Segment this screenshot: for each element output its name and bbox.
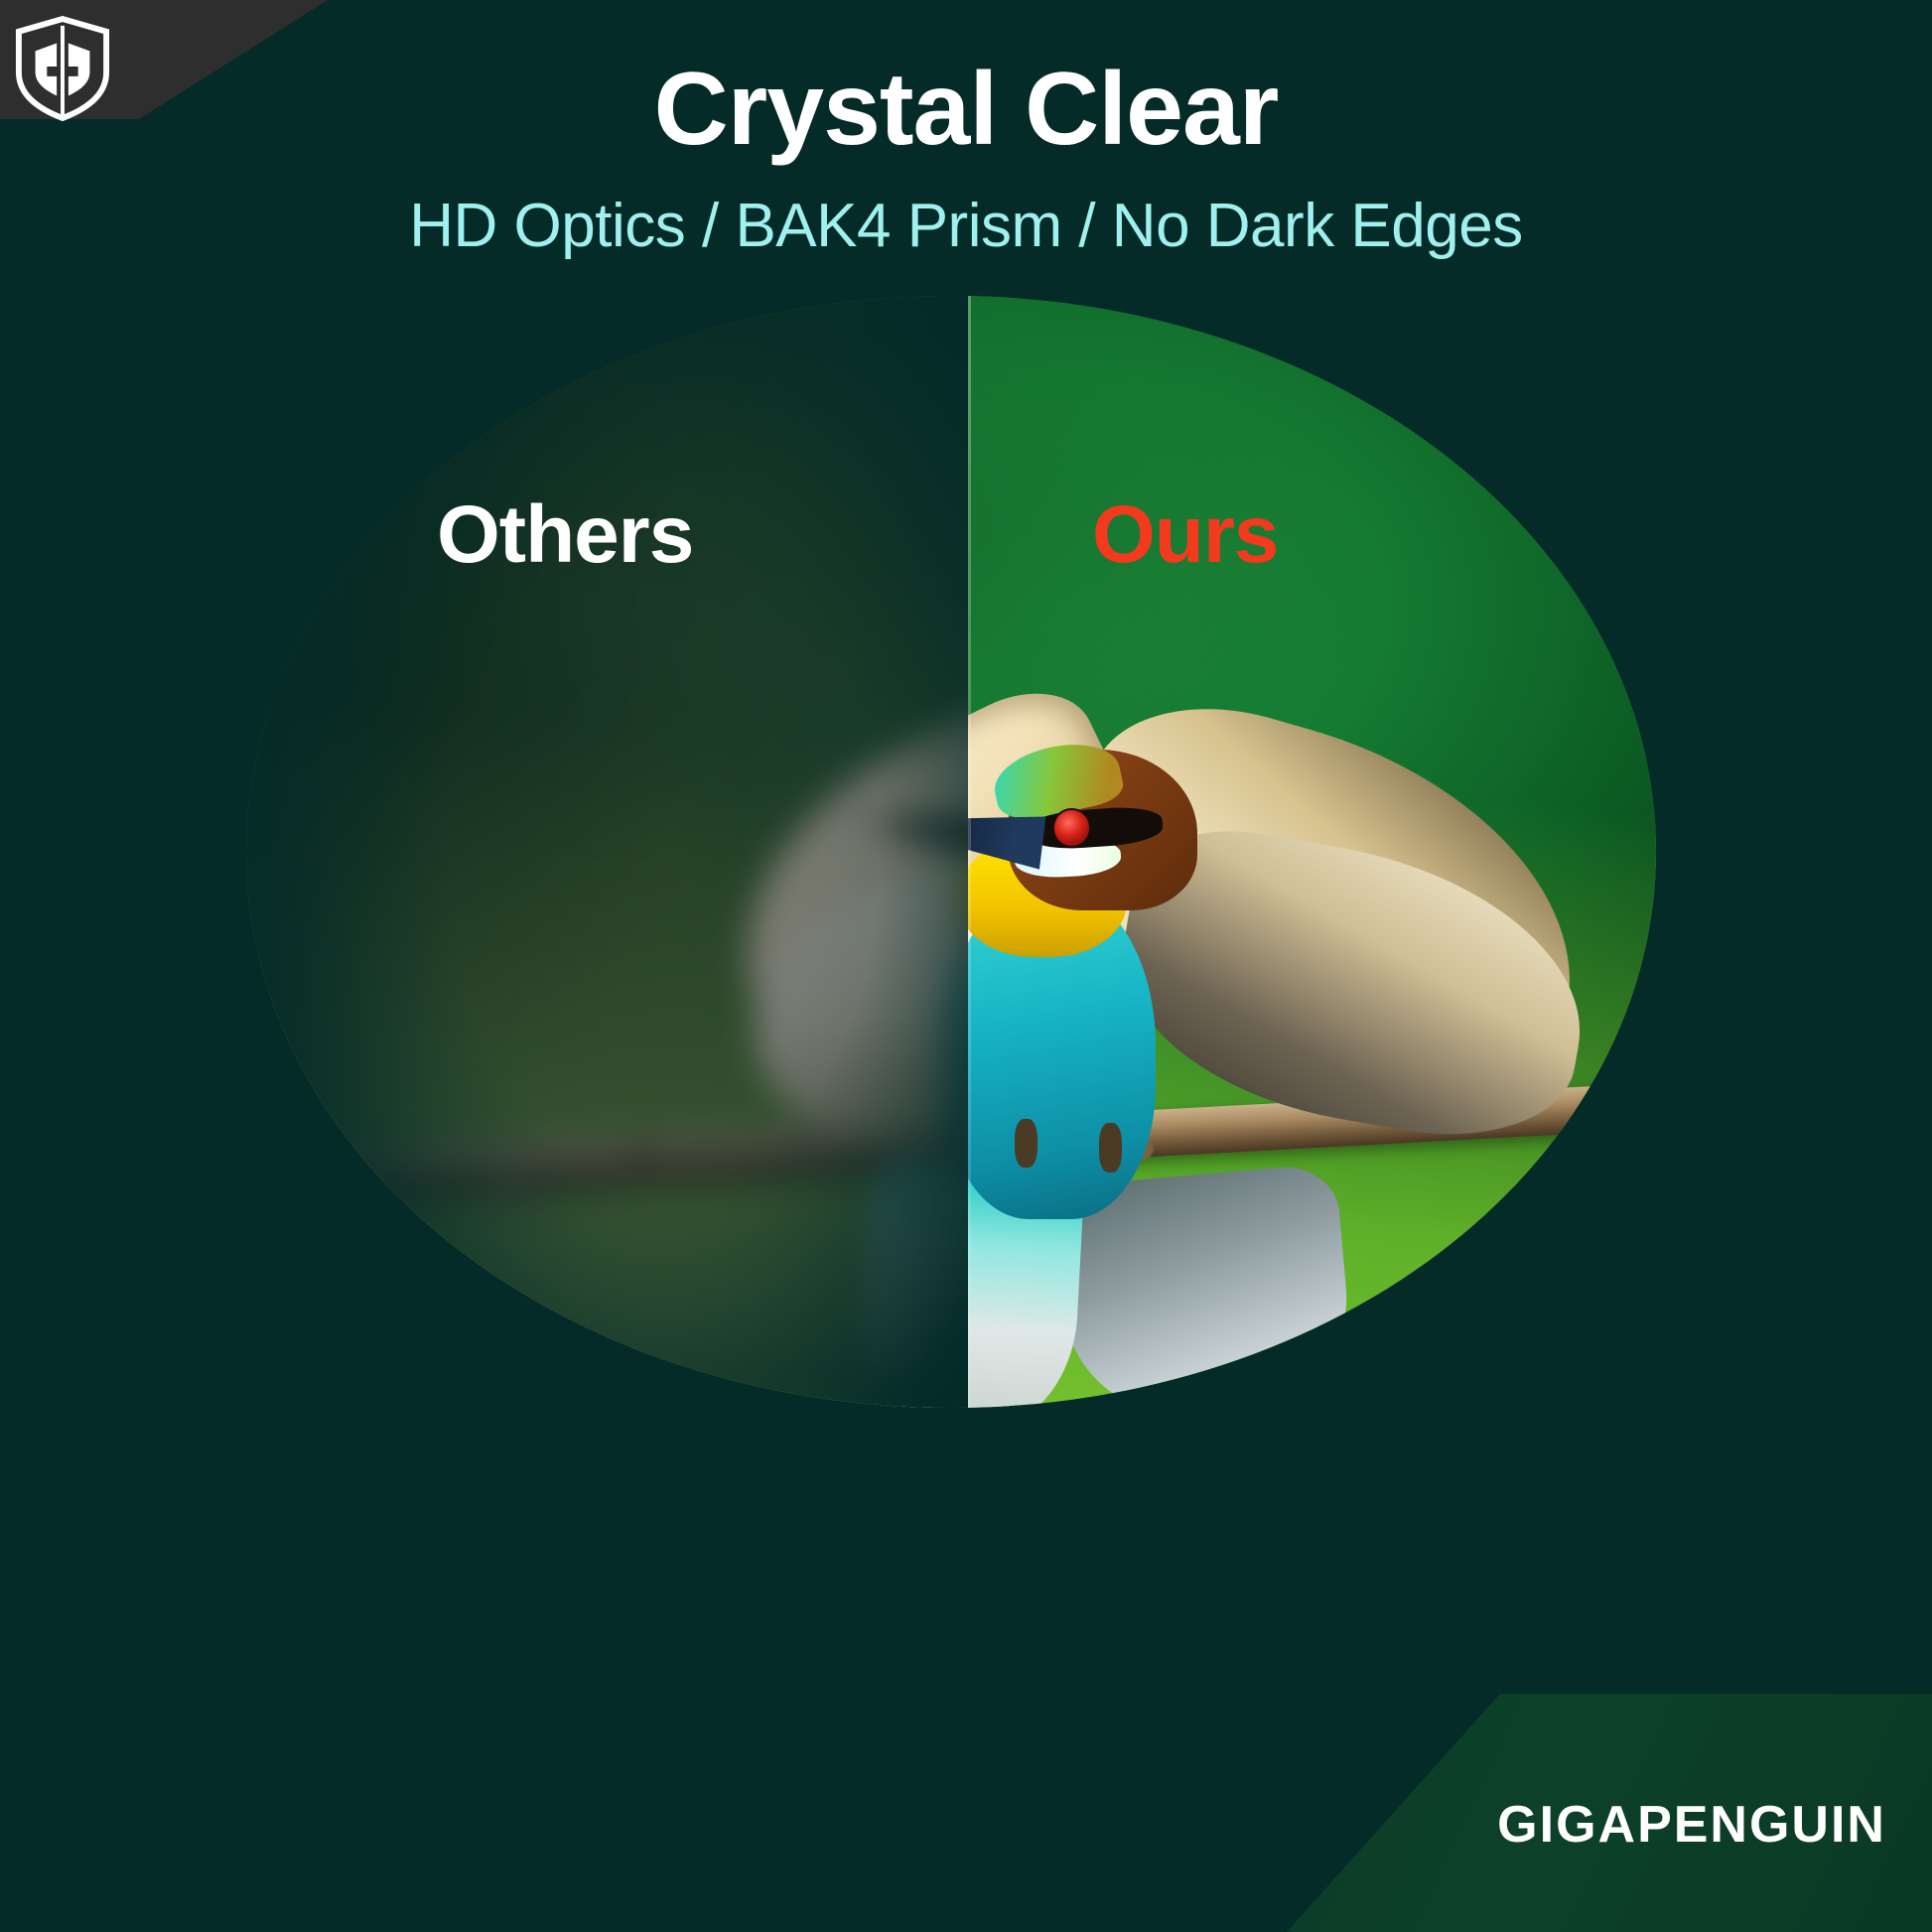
others-half-overlay bbox=[246, 296, 968, 1408]
page-title: Crystal Clear bbox=[0, 56, 1932, 164]
others-blurred-scene bbox=[246, 296, 968, 1408]
comparison-split-line bbox=[968, 296, 971, 1408]
comparison-photo-circle bbox=[246, 296, 1656, 1408]
others-label: Others bbox=[437, 488, 693, 582]
bird-eye bbox=[1052, 808, 1090, 847]
bee-eater-bird-blurred bbox=[246, 296, 968, 1408]
ours-label: Ours bbox=[1092, 488, 1278, 582]
promo-poster: Crystal Clear HD Optics / BAK4 Prism / N… bbox=[0, 0, 1932, 1932]
brand-wordmark: GIGAPENGUIN bbox=[1497, 1795, 1886, 1855]
bird-foot bbox=[1015, 1119, 1037, 1168]
page-subtitle: HD Optics / BAK4 Prism / No Dark Edges bbox=[0, 191, 1932, 261]
bird-foot bbox=[1099, 1123, 1122, 1172]
